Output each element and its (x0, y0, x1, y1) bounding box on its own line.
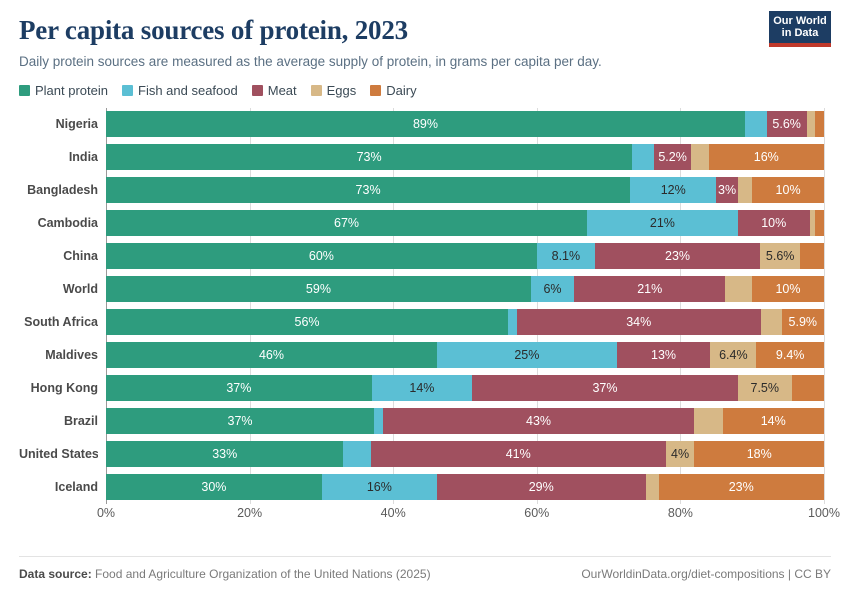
owid-logo-line2: in Data (772, 27, 828, 39)
bar-segment-label: 30% (201, 480, 226, 494)
bar-segment-eggs[interactable]: 7.5% (738, 375, 792, 401)
stacked-bar: 33%41%4%18% (106, 441, 824, 467)
bar-segment-dairy[interactable]: 18% (694, 441, 823, 467)
bar-segment-label: 43% (526, 414, 551, 428)
bar-segment-dairy[interactable] (815, 111, 824, 137)
bar-segment-label: 46% (259, 348, 284, 362)
stacked-bar: 67%21%10% (106, 210, 824, 236)
bar-segment-label: 3% (718, 183, 736, 197)
bar-rows: Nigeria89%5.6%India73%5.2%16%Bangladesh7… (106, 108, 824, 504)
bar-segment-plant-protein[interactable]: 30% (106, 474, 322, 500)
bar-row[interactable]: Nigeria89%5.6% (106, 108, 824, 141)
bar-segment-label: 34% (626, 315, 651, 329)
legend-swatch-icon (252, 85, 263, 96)
bar-row[interactable]: India73%5.2%16% (106, 141, 824, 174)
bar-segment-dairy[interactable] (815, 210, 824, 236)
bar-segment-plant-protein[interactable]: 56% (106, 309, 508, 335)
legend-item-dairy[interactable]: Dairy (370, 83, 416, 98)
bar-segment-plant-protein[interactable]: 89% (106, 111, 745, 137)
bar-segment-label: 25% (514, 348, 539, 362)
stacked-bar: 60%8.1%23%5.6% (106, 243, 824, 269)
stacked-bar: 73%5.2%16% (106, 144, 824, 170)
bar-segment-label: 21% (650, 216, 675, 230)
x-axis-tick-label: 40% (381, 506, 406, 520)
bar-segment-fish-and-seafood[interactable]: 21% (587, 210, 738, 236)
bar-segment-label: 29% (529, 480, 554, 494)
bar-segment-dairy[interactable] (792, 375, 824, 401)
bar-segment-label: 89% (413, 117, 438, 131)
bar-segment-label: 5.6% (772, 117, 801, 131)
legend-item-label: Plant protein (35, 83, 108, 98)
bar-row-label: Brazil (19, 414, 98, 428)
bar-row-label: World (19, 282, 98, 296)
bar-segment-label: 56% (295, 315, 320, 329)
bar-segment-plant-protein[interactable]: 37% (106, 408, 374, 434)
bar-row-label: Cambodia (19, 216, 98, 230)
bar-segment-label: 12% (661, 183, 686, 197)
bar-segment-dairy[interactable]: 10% (752, 276, 824, 302)
legend-item-label: Dairy (386, 83, 416, 98)
bar-segment-eggs[interactable]: 4% (666, 441, 695, 467)
bar-segment-meat[interactable]: 3% (716, 177, 738, 203)
x-axis-tick-label: 60% (524, 506, 549, 520)
bar-segment-plant-protein[interactable]: 60% (106, 243, 537, 269)
bar-segment-label: 21% (637, 282, 662, 296)
bar-segment-label: 14% (409, 381, 434, 395)
bar-segment-eggs[interactable] (807, 111, 816, 137)
bar-row-label: Maldives (19, 348, 98, 362)
bar-segment-fish-and-seafood[interactable] (632, 144, 654, 170)
bar-segment-eggs[interactable]: 6.4% (710, 342, 756, 368)
attribution: OurWorldinData.org/diet-compositions | C… (581, 567, 831, 581)
bar-segment-label: 23% (729, 480, 754, 494)
stacked-bar: 30%16%29%23% (106, 474, 824, 500)
bar-segment-meat[interactable]: 34% (517, 309, 761, 335)
bar-segment-label: 5.9% (789, 315, 818, 329)
bar-segment-label: 9.4% (776, 348, 805, 362)
bar-segment-label: 13% (651, 348, 676, 362)
bar-segment-plant-protein[interactable]: 33% (106, 441, 343, 467)
bar-segment-fish-and-seafood[interactable] (745, 111, 767, 137)
bar-segment-label: 10% (776, 183, 801, 197)
bar-segment-dairy[interactable]: 5.9% (782, 309, 824, 335)
bar-segment-fish-and-seafood[interactable] (343, 441, 370, 467)
bar-segment-label: 8.1% (552, 249, 581, 263)
bar-segment-eggs[interactable] (694, 408, 722, 434)
bar-segment-label: 59% (306, 282, 331, 296)
chart-subtitle: Daily protein sources are measured as th… (19, 53, 831, 71)
legend-item-label: Meat (268, 83, 297, 98)
bar-segment-label: 10% (761, 216, 786, 230)
bar-segment-fish-and-seafood[interactable]: 16% (322, 474, 437, 500)
x-axis-tick-label: 20% (237, 506, 262, 520)
bar-segment-plant-protein[interactable]: 73% (106, 144, 632, 170)
bar-segment-label: 14% (761, 414, 786, 428)
bar-segment-eggs[interactable] (691, 144, 708, 170)
bar-row[interactable]: Bangladesh73%12%3%10% (106, 174, 824, 207)
legend-item-fish-and-seafood[interactable]: Fish and seafood (122, 83, 238, 98)
legend-swatch-icon (122, 85, 133, 96)
stacked-bar: 73%12%3%10% (106, 177, 824, 203)
bar-segment-label: 67% (334, 216, 359, 230)
bar-row[interactable]: Maldives46%25%13%6.4%9.4% (106, 339, 824, 372)
gridline-100 (824, 108, 825, 504)
plot-region: Nigeria89%5.6%India73%5.2%16%Bangladesh7… (106, 108, 824, 504)
legend-item-label: Fish and seafood (138, 83, 238, 98)
bar-segment-fish-and-seafood[interactable]: 8.1% (537, 243, 595, 269)
bar-segment-plant-protein[interactable]: 59% (106, 276, 531, 302)
bar-row[interactable]: World59%6%21%10% (106, 273, 824, 306)
owid-logo[interactable]: Our World in Data (769, 11, 831, 47)
bar-segment-label: 33% (212, 447, 237, 461)
bar-row-label: Iceland (19, 480, 98, 494)
bar-row[interactable]: Cambodia67%21%10% (106, 207, 824, 240)
bar-segment-dairy[interactable]: 10% (752, 177, 824, 203)
bar-row-label: China (19, 249, 98, 263)
stacked-bar: 59%6%21%10% (106, 276, 824, 302)
bar-row[interactable]: Brazil37%43%14% (106, 405, 824, 438)
bar-segment-label: 41% (506, 447, 531, 461)
bar-segment-plant-protein[interactable]: 37% (106, 375, 372, 401)
chart-header: Per capita sources of protein, 2023 Dail… (1, 1, 849, 71)
legend-swatch-icon (19, 85, 30, 96)
bar-segment-fish-and-seafood[interactable]: 6% (531, 276, 574, 302)
bar-segment-label: 6.4% (719, 348, 748, 362)
bar-segment-meat[interactable]: 29% (437, 474, 646, 500)
x-axis-tick-label: 100% (808, 506, 840, 520)
bar-segment-label: 37% (226, 381, 251, 395)
stacked-bar: 37%43%14% (106, 408, 824, 434)
data-source: Data source: Food and Agriculture Organi… (19, 567, 431, 581)
x-axis-tick-label: 80% (668, 506, 693, 520)
bar-segment-plant-protein[interactable]: 67% (106, 210, 587, 236)
legend-item-label: Eggs (327, 83, 357, 98)
bar-segment-dairy[interactable]: 23% (659, 474, 824, 500)
stacked-bar: 37%14%37%7.5% (106, 375, 824, 401)
bar-row-label: Hong Kong (19, 381, 98, 395)
bar-segment-label: 10% (775, 282, 800, 296)
bar-segment-eggs[interactable] (761, 309, 782, 335)
bar-segment-label: 37% (592, 381, 617, 395)
bar-segment-label: 4% (671, 447, 689, 461)
bar-segment-label: 5.2% (658, 150, 687, 164)
legend-swatch-icon (311, 85, 322, 96)
bar-segment-meat[interactable]: 23% (595, 243, 760, 269)
legend-item-plant-protein[interactable]: Plant protein (19, 83, 108, 98)
bar-segment-label: 6% (543, 282, 561, 296)
bar-segment-dairy[interactable]: 14% (723, 408, 824, 434)
bar-segment-eggs[interactable]: 5.6% (760, 243, 800, 269)
bar-row[interactable]: Iceland30%16%29%23% (106, 471, 824, 504)
bar-segment-label: 16% (754, 150, 779, 164)
chart-area: Nigeria89%5.6%India73%5.2%16%Bangladesh7… (1, 108, 849, 526)
stacked-bar: 89%5.6% (106, 111, 824, 137)
bar-row-label: Nigeria (19, 117, 98, 131)
bar-segment-label: 5.6% (766, 249, 795, 263)
bar-segment-label: 73% (356, 183, 381, 197)
stacked-bar: 56%34%5.9% (106, 309, 824, 335)
owid-logo-line1: Our World (772, 15, 828, 27)
bar-segment-label: 23% (665, 249, 690, 263)
bar-segment-fish-and-seafood[interactable] (374, 408, 383, 434)
stacked-bar: 46%25%13%6.4%9.4% (106, 342, 824, 368)
data-source-text: Food and Agriculture Organization of the… (95, 567, 431, 581)
bar-segment-eggs[interactable] (725, 276, 752, 302)
bar-row[interactable]: South Africa56%34%5.9% (106, 306, 824, 339)
bar-row-label: South Africa (19, 315, 98, 329)
bar-row-label: United States (19, 447, 98, 461)
chart-page: Per capita sources of protein, 2023 Dail… (0, 0, 850, 600)
chart-footer: Data source: Food and Agriculture Organi… (19, 556, 831, 581)
bar-segment-fish-and-seafood[interactable]: 25% (437, 342, 617, 368)
bar-row[interactable]: United States33%41%4%18% (106, 438, 824, 471)
bar-segment-fish-and-seafood[interactable]: 12% (630, 177, 716, 203)
bar-segment-dairy[interactable] (800, 243, 824, 269)
legend-item-eggs[interactable]: Eggs (311, 83, 357, 98)
bar-segment-label: 73% (357, 150, 382, 164)
bar-segment-meat[interactable]: 10% (738, 210, 810, 236)
bar-segment-plant-protein[interactable]: 46% (106, 342, 437, 368)
page-title: Per capita sources of protein, 2023 (19, 15, 831, 46)
bar-segment-eggs[interactable] (738, 177, 752, 203)
bar-segment-label: 16% (367, 480, 392, 494)
bar-segment-eggs[interactable] (646, 474, 659, 500)
bar-segment-meat[interactable]: 5.6% (767, 111, 807, 137)
legend-item-meat[interactable]: Meat (252, 83, 297, 98)
legend-swatch-icon (370, 85, 381, 96)
chart-legend: Plant proteinFish and seafoodMeatEggsDai… (1, 71, 849, 98)
x-axis: 0%20%40%60%80%100% (106, 504, 824, 526)
bar-segment-label: 60% (309, 249, 334, 263)
bar-row-label: Bangladesh (19, 183, 98, 197)
bar-segment-meat[interactable]: 5.2% (654, 144, 691, 170)
bar-segment-dairy[interactable]: 9.4% (756, 342, 824, 368)
bar-row[interactable]: China60%8.1%23%5.6% (106, 240, 824, 273)
bar-segment-fish-and-seafood[interactable] (508, 309, 517, 335)
bar-segment-meat[interactable]: 37% (472, 375, 738, 401)
bar-segment-plant-protein[interactable]: 73% (106, 177, 630, 203)
bar-segment-meat[interactable]: 13% (617, 342, 711, 368)
bar-segment-meat[interactable]: 41% (371, 441, 666, 467)
bar-segment-label: 18% (747, 447, 772, 461)
bar-row[interactable]: Hong Kong37%14%37%7.5% (106, 372, 824, 405)
bar-segment-label: 7.5% (751, 381, 780, 395)
bar-row-label: India (19, 150, 98, 164)
bar-segment-meat[interactable]: 21% (574, 276, 725, 302)
bar-segment-fish-and-seafood[interactable]: 14% (372, 375, 473, 401)
x-axis-tick-label: 0% (97, 506, 115, 520)
bar-segment-label: 37% (228, 414, 253, 428)
bar-segment-dairy[interactable]: 16% (709, 144, 824, 170)
bar-segment-meat[interactable]: 43% (383, 408, 695, 434)
data-source-label: Data source: (19, 567, 92, 581)
